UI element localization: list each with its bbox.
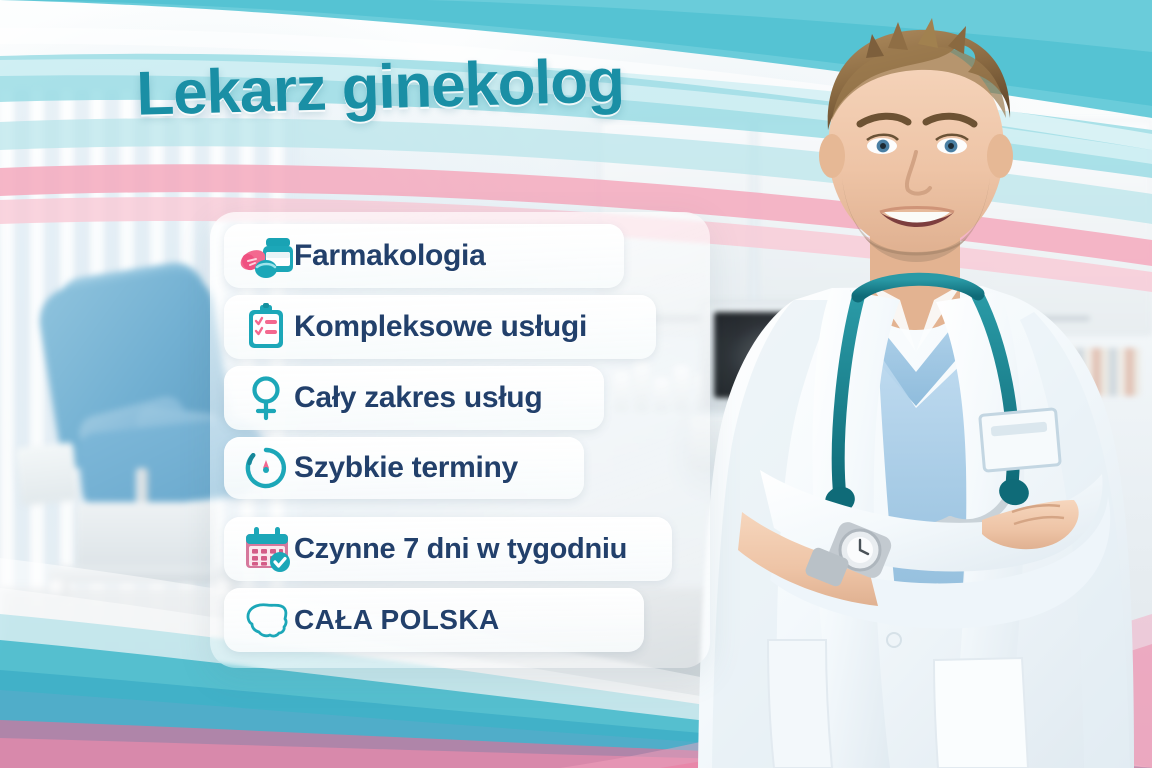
feature-item-cala-polska[interactable]: CAŁA POLSKA — [224, 588, 644, 652]
pills-bottle-icon — [238, 232, 294, 280]
feature-label: CAŁA POLSKA — [294, 604, 500, 636]
page-title: Lekarz ginekolog — [0, 41, 761, 133]
feature-item-szybkie-terminy[interactable]: Szybkie terminy — [224, 437, 584, 499]
feature-item-farmakologia[interactable]: Farmakologia — [224, 224, 624, 288]
feature-label: Szybkie terminy — [294, 451, 518, 485]
feature-item-caly-zakres-uslug[interactable]: Cały zakres usług — [224, 366, 604, 430]
banner-root: Lekarz ginekolog — [0, 0, 1152, 768]
feature-item-czynne-7-dni[interactable]: Czynne 7 dni w tygodniu — [224, 517, 672, 581]
calendar-check-icon — [238, 525, 294, 573]
feature-panel: Farmakologia Kompleksowe u — [210, 212, 710, 668]
feature-item-kompleksowe-uslugi[interactable]: Kompleksowe usługi — [224, 295, 656, 359]
feature-label: Cały zakres usług — [294, 381, 542, 415]
feature-list: Farmakologia Kompleksowe u — [210, 212, 710, 659]
feature-label: Farmakologia — [294, 239, 485, 273]
poland-map-icon — [238, 596, 294, 644]
clipboard-checklist-icon — [238, 303, 294, 351]
feature-label: Czynne 7 dni w tygodniu — [294, 533, 627, 566]
clock-timer-icon — [238, 444, 294, 492]
title-area: Lekarz ginekolog — [0, 52, 760, 123]
venus-symbol-icon — [238, 374, 294, 422]
feature-label: Kompleksowe usługi — [294, 310, 587, 344]
